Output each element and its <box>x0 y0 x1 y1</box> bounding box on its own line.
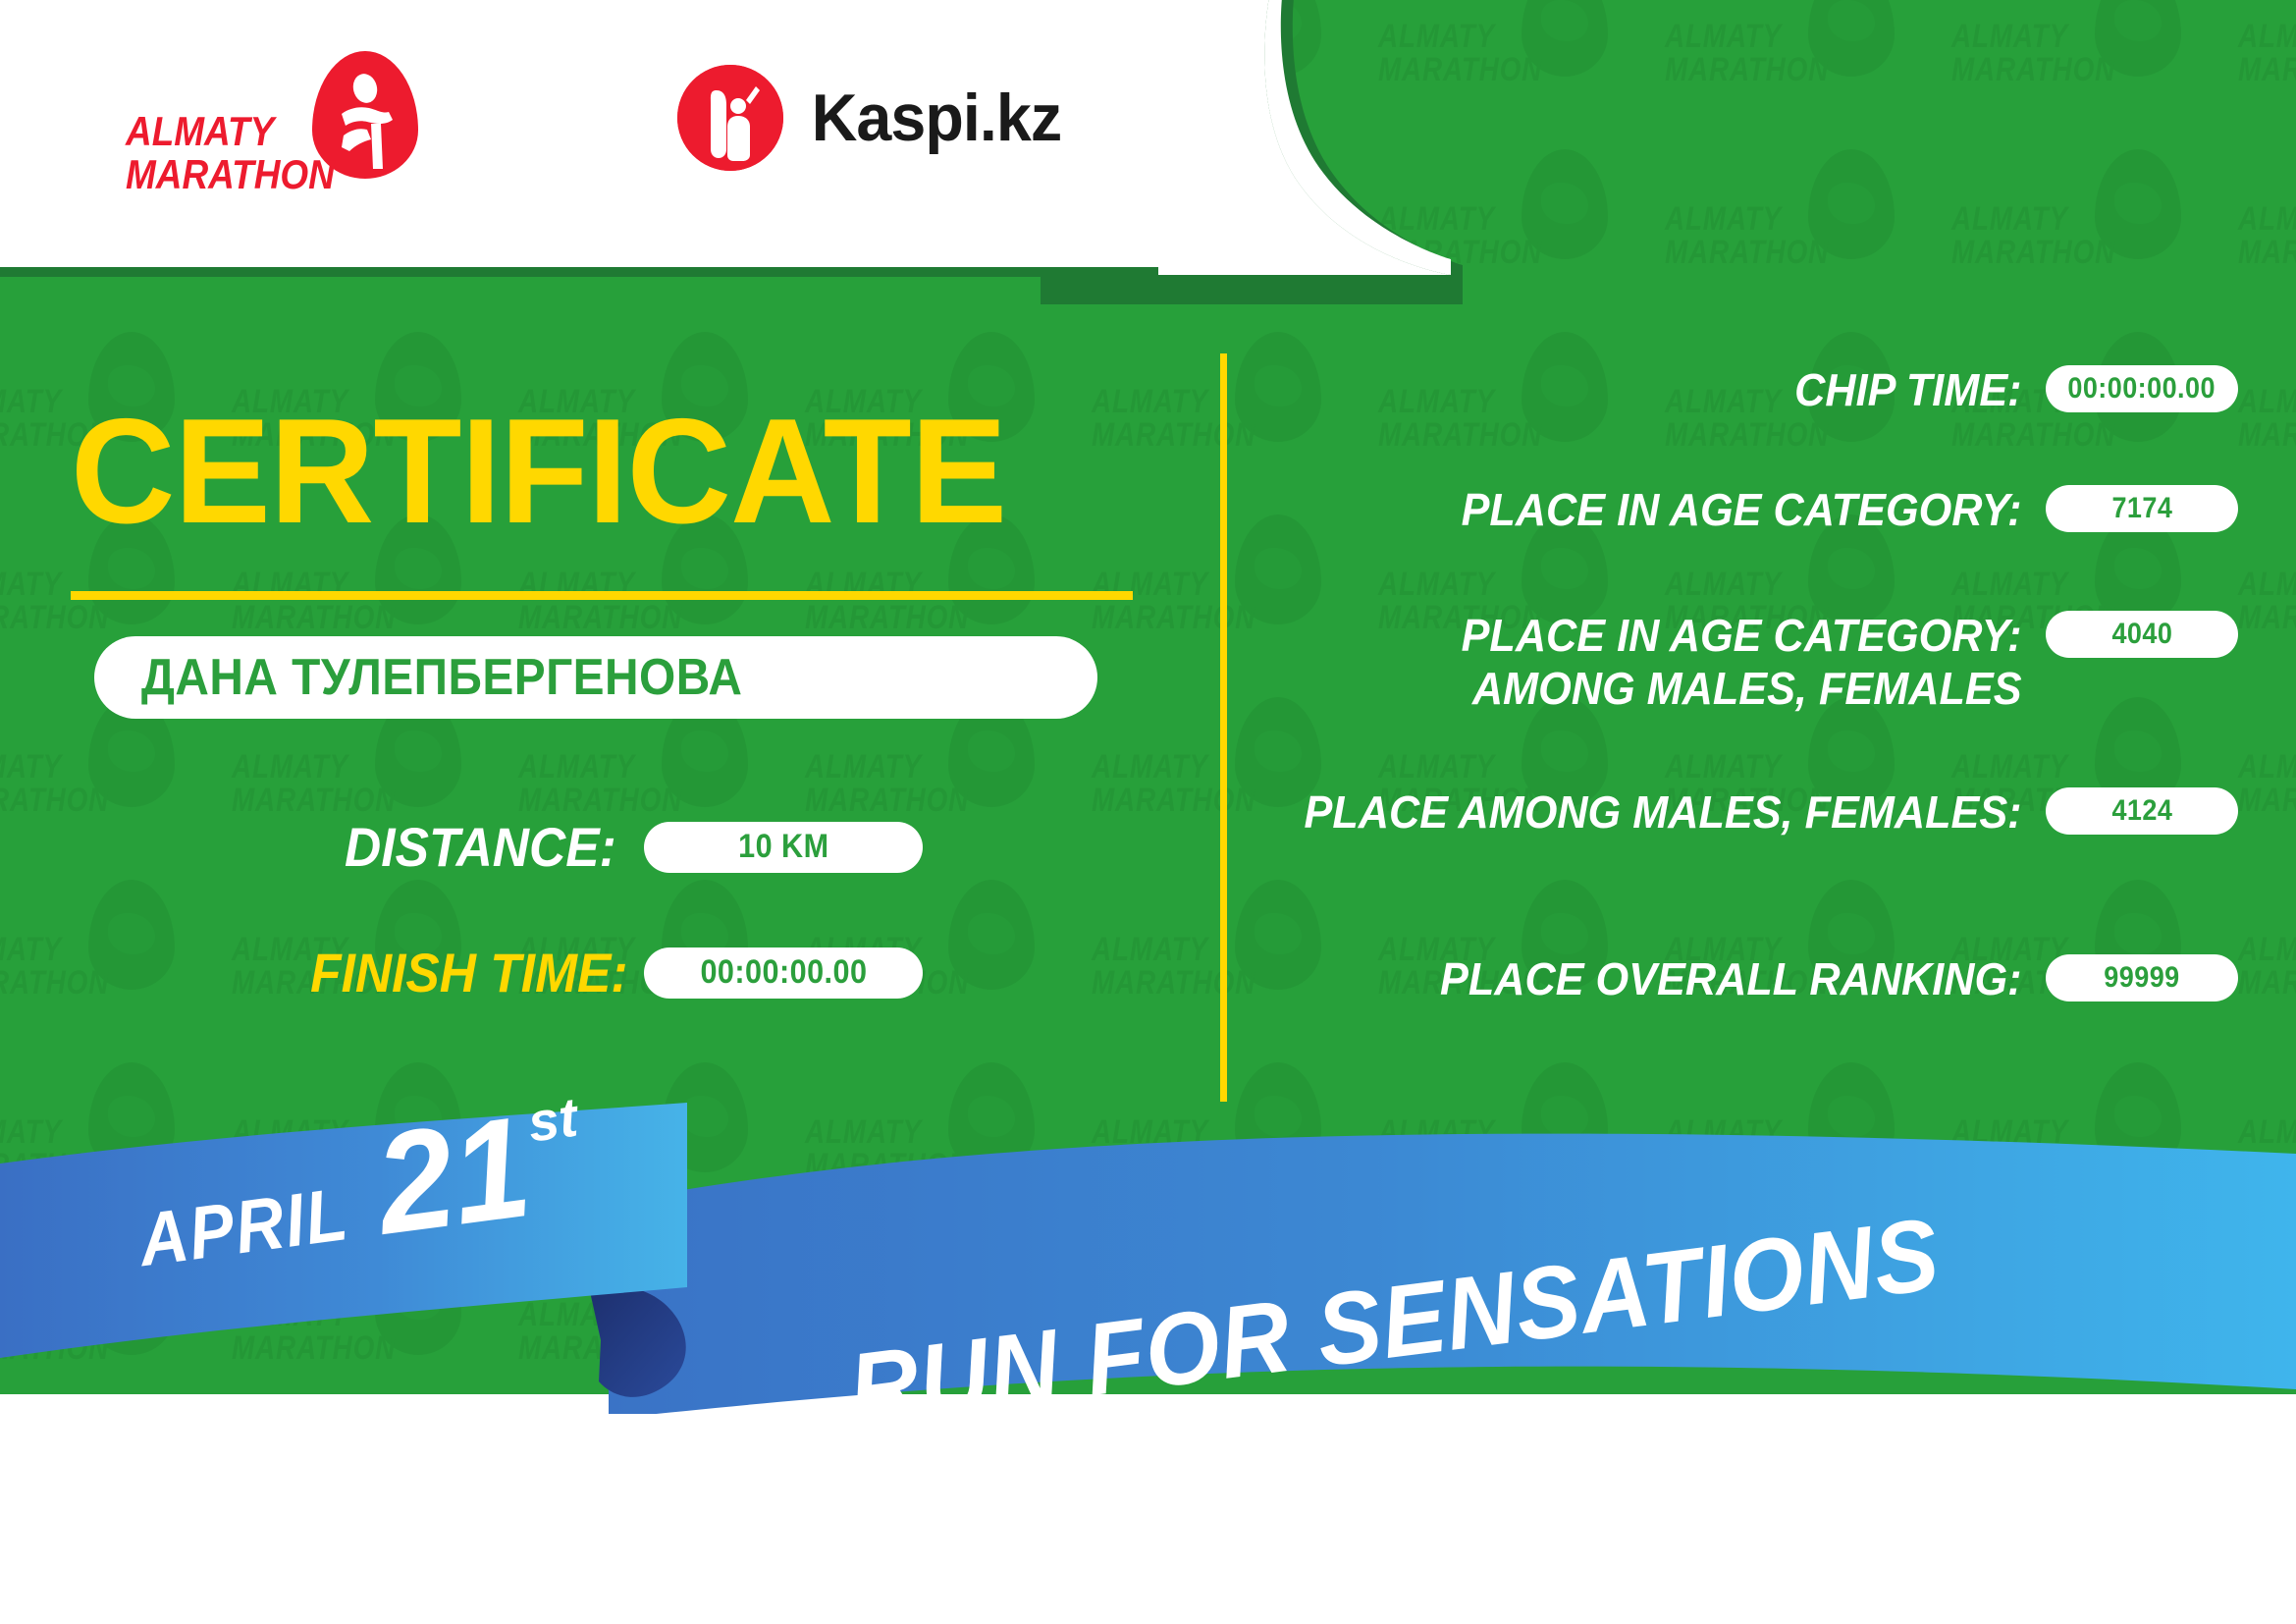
finish-time-label: FINISH TIME: <box>311 941 628 1004</box>
vertical-divider <box>1220 353 1227 1102</box>
title-underline <box>71 591 1133 600</box>
stat-row-place-overall-ranking: PLACE OVERALL RANKING: 99999 <box>1256 952 2238 1060</box>
kaspi-logo: Kaspi.kz <box>677 59 1090 177</box>
stats-column: CHIP TIME: 00:00:00.00 PLACE IN AGE CATE… <box>1256 363 2238 1060</box>
stat-value-place-age-category-among: 4040 <box>2111 618 2172 651</box>
stat-pill-place-among-males-females: 4124 <box>2046 787 2238 835</box>
logo-line-1: ALMATY <box>126 108 274 154</box>
finish-time-row: FINISH TIME: 00:00:00.00 <box>0 941 923 1004</box>
stat-value-place-among-males-females: 4124 <box>2111 794 2172 828</box>
almaty-marathon-logo-text: ALMATY MARATHON <box>126 110 335 196</box>
certificate-page: ALMATYMARATHONALMATYMARATHONALMATYMARATH… <box>0 0 2296 1624</box>
left-column: CERTIFICATE ДАНА ТУЛЕПБЕРГЕНОВА DISTANCE… <box>0 285 1178 1100</box>
stat-label-place-age-category-among: PLACE IN AGE CATEGORY: AMONG MALES, FEMA… <box>1304 609 2046 715</box>
participant-name-field: ДАНА ТУЛЕПБЕРГЕНОВА <box>94 636 1097 719</box>
stat-label-place-among-males-females: PLACE AMONG MALES, FEMALES: <box>1304 785 2046 839</box>
event-day-suffix: st <box>524 1085 581 1155</box>
stat-label-chip-time: CHIP TIME: <box>1304 363 2046 416</box>
finish-time-value-pill: 00:00:00.00 <box>644 947 923 999</box>
almaty-marathon-logo: ALMATY MARATHON <box>126 51 440 193</box>
stat-value-chip-time: 00:00:00.00 <box>2068 372 2216 406</box>
kaspi-logo-text: Kaspi.kz <box>812 80 1061 156</box>
event-day: 21 <box>369 1098 537 1254</box>
distance-label: DISTANCE: <box>345 815 616 879</box>
stat-value-place-overall-ranking: 99999 <box>2104 961 2179 995</box>
stat-row-chip-time: CHIP TIME: 00:00:00.00 <box>1256 363 2238 483</box>
header-bottom-edge <box>0 267 1158 277</box>
stat-pill-place-overall-ranking: 99999 <box>2046 954 2238 1001</box>
finish-time-value: 00:00:00.00 <box>700 953 867 992</box>
distance-row: DISTANCE: 10 KM <box>0 815 923 879</box>
distance-value: 10 KM <box>738 828 828 866</box>
stat-label-place-overall-ranking: PLACE OVERALL RANKING: <box>1304 952 2046 1005</box>
sponsor-bar <box>0 1414 2296 1624</box>
stat-row-place-age-category-among: PLACE IN AGE CATEGORY: AMONG MALES, FEMA… <box>1256 609 2238 785</box>
kaspi-people-icon <box>677 65 783 171</box>
header-curve-shape <box>1041 0 1463 304</box>
stat-row-place-among-males-females: PLACE AMONG MALES, FEMALES: 4124 <box>1256 785 2238 952</box>
page-title: CERTIFICATE <box>71 398 1006 545</box>
stat-pill-chip-time: 00:00:00.00 <box>2046 365 2238 412</box>
stat-pill-place-age-category-among: 4040 <box>2046 611 2238 658</box>
stat-row-place-age-category: PLACE IN AGE CATEGORY: 7174 <box>1256 483 2238 609</box>
stat-label-place-age-category: PLACE IN AGE CATEGORY: <box>1304 483 2046 536</box>
stat-value-place-age-category: 7174 <box>2111 492 2172 525</box>
stat-pill-place-age-category: 7174 <box>2046 485 2238 532</box>
participant-name-value: ДАНА ТУЛЕПБЕРГЕНОВА <box>94 648 742 707</box>
logo-line-2: MARATHON <box>126 151 335 197</box>
distance-value-pill: 10 KM <box>644 822 923 873</box>
